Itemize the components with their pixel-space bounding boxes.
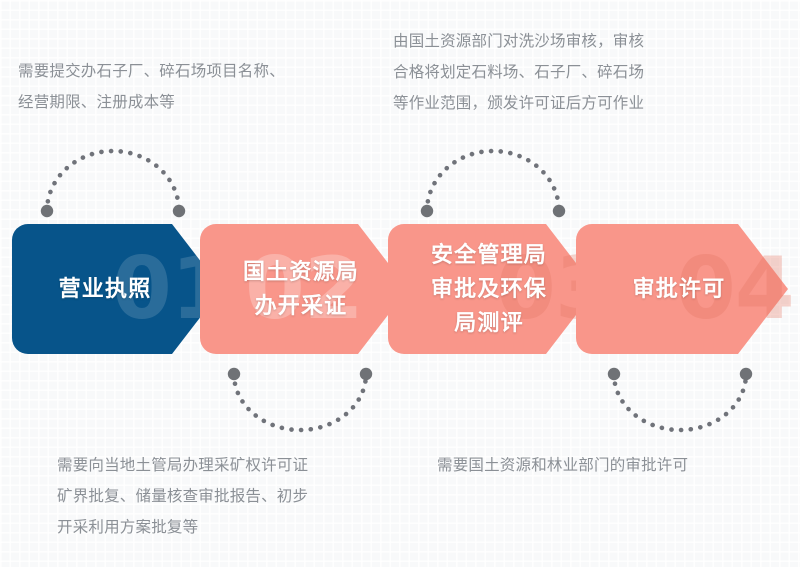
note-bottom-right: 需要国土资源和林业部门的审批许可 [437,450,787,481]
note-top-right: 由国土资源部门对洗沙场审核，审核 合格将划定石料场、石子厂、碎石场 等作业范围，… [393,26,738,119]
flow-step-01[interactable]: 01 营业执照 [12,224,222,354]
flow-step-03-label: 安全管理局 审批及环保 局测评 [396,224,582,354]
dotted-arc-connector-down-1 [225,368,375,440]
flow-step-04[interactable]: 04 审批许可 [576,224,788,354]
flow-step-01-label: 营业执照 [12,224,198,354]
note-top-left: 需要提交办石子厂、碎石场项目名称、 经营期限、注册成本等 [18,56,378,118]
flow-step-02-label: 国土资源局 办开采证 [208,224,394,354]
flow-step-04-label: 审批许可 [584,224,774,354]
dotted-arc-connector-up-1 [38,142,188,220]
flow-step-02[interactable]: 02 国土资源局 办开采证 [200,224,408,354]
dotted-arc-connector-down-2 [605,368,755,440]
infographic-canvas: 需要提交办石子厂、碎石场项目名称、 经营期限、注册成本等 由国土资源部门对洗沙场… [0,0,800,567]
dotted-arc-connector-up-2 [418,142,568,220]
flow-step-03[interactable]: 03 安全管理局 审批及环保 局测评 [388,224,596,354]
process-flow: 01 营业执照 02 国土资源局 办开采证 03 安全管理局 审批及环保 局测评 [0,224,800,358]
note-bottom-left: 需要向当地土管局办理采矿权许可证 矿界批复、储量核查审批报告、初步 开采利用方案… [57,450,427,543]
